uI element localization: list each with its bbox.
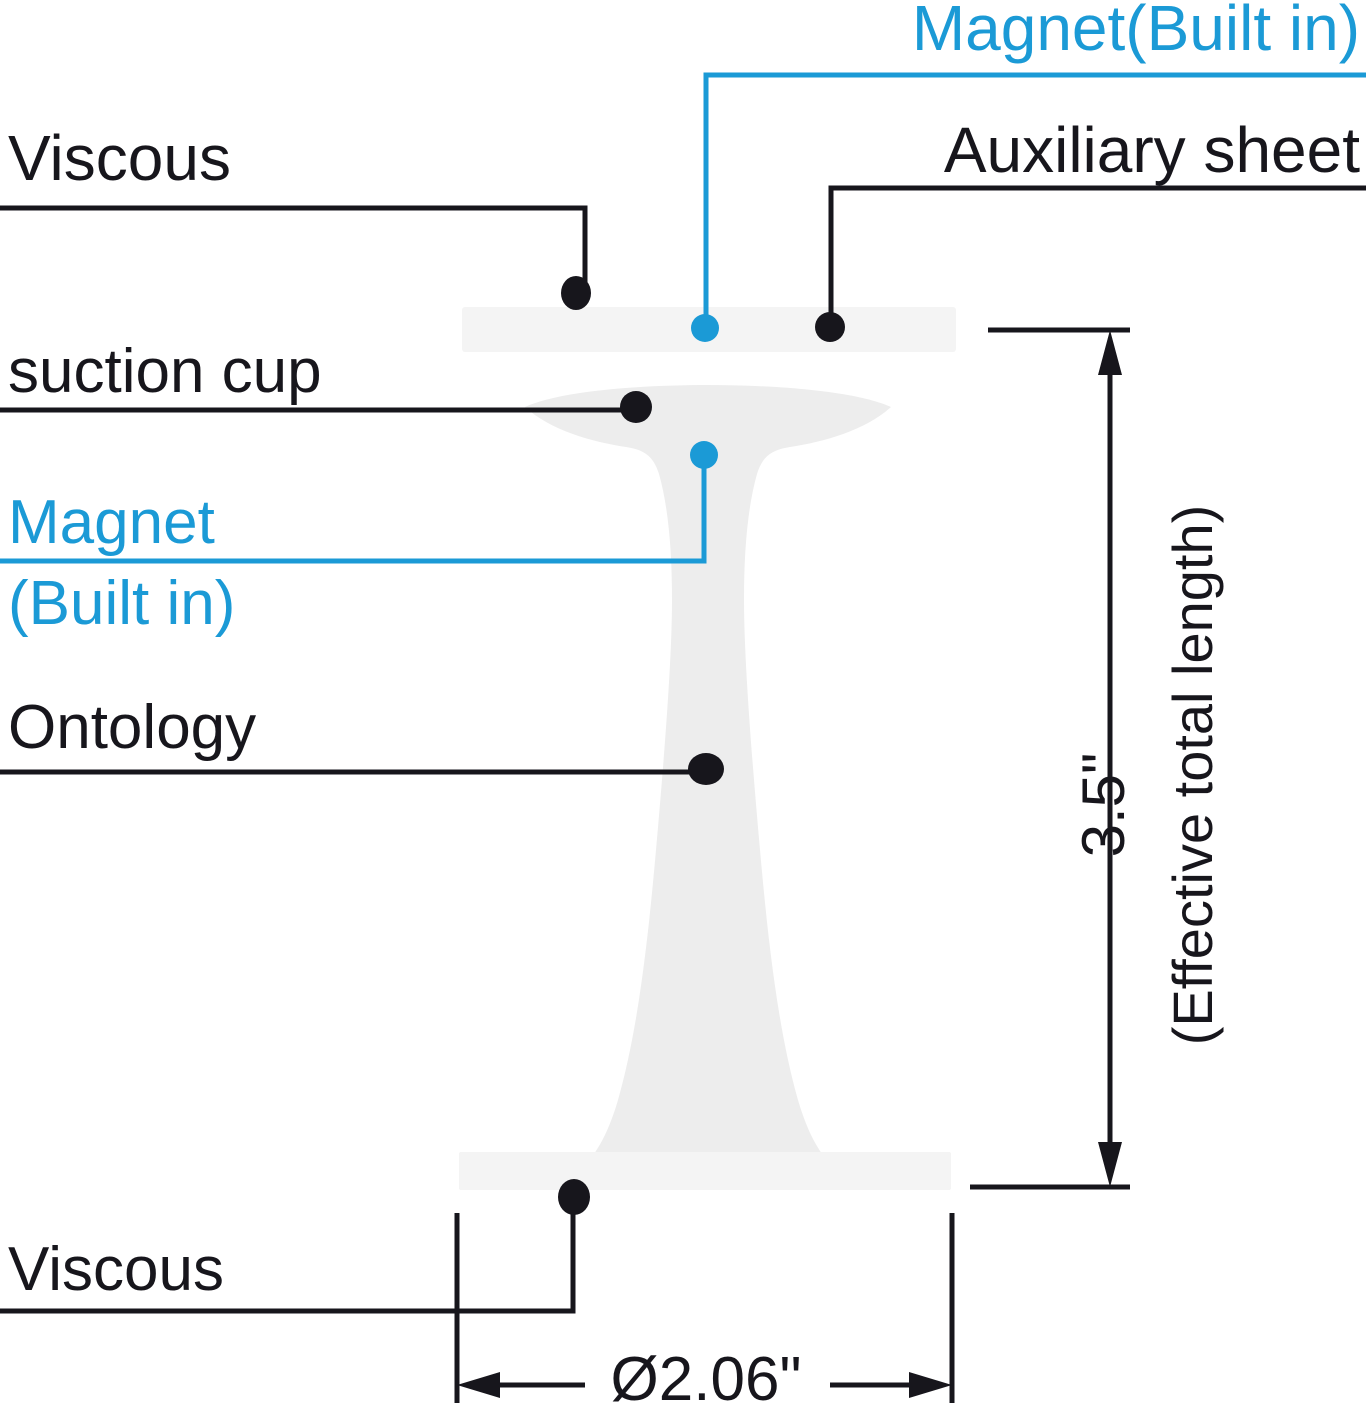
diameter-dimension-value: Ø2.06" xyxy=(611,1345,802,1403)
height-dimension-value: 3.5" xyxy=(1070,753,1137,858)
viscous-top-leader-line xyxy=(0,208,585,285)
auxiliary-sheet-leader-dot xyxy=(815,312,845,342)
diameter-arrow-right xyxy=(909,1372,952,1398)
viscous-bottom-leader-dot xyxy=(558,1179,590,1215)
label-magnet-top: Magnet(Built in) xyxy=(912,0,1360,64)
viscous-top-leader-dot xyxy=(561,276,591,310)
label-viscous-bottom: Viscous xyxy=(8,1235,224,1304)
base-plate-shape xyxy=(459,1152,951,1190)
ontology-leader-dot xyxy=(688,753,724,785)
magnet-left-leader-dot xyxy=(690,441,718,469)
label-ontology: Ontology xyxy=(8,693,256,762)
height-dimension-arrow-up xyxy=(1098,330,1122,375)
product-dimension-diagram: 3.5" (Effective total length) Ø2.06" Vis… xyxy=(0,0,1366,1403)
magnet-top-leader-line xyxy=(706,75,1366,312)
height-dimension-arrow-down xyxy=(1098,1142,1122,1187)
suction-cup-leader-dot xyxy=(620,391,652,423)
label-suction-cup: suction cup xyxy=(8,337,322,406)
diagram-canvas: 3.5" (Effective total length) Ø2.06" Vis… xyxy=(0,0,1366,1403)
diameter-arrow-left xyxy=(457,1372,500,1398)
height-dimension-note: (Effective total length) xyxy=(1161,505,1224,1046)
label-magnet-left-line1: Magnet xyxy=(8,488,215,557)
magnet-top-leader-dot xyxy=(691,314,719,342)
label-auxiliary-sheet: Auxiliary sheet xyxy=(944,114,1360,186)
label-magnet-left-line2: (Built in) xyxy=(8,569,235,638)
auxiliary-sheet-leader-line xyxy=(831,188,1366,312)
label-viscous-top: Viscous xyxy=(8,122,231,194)
